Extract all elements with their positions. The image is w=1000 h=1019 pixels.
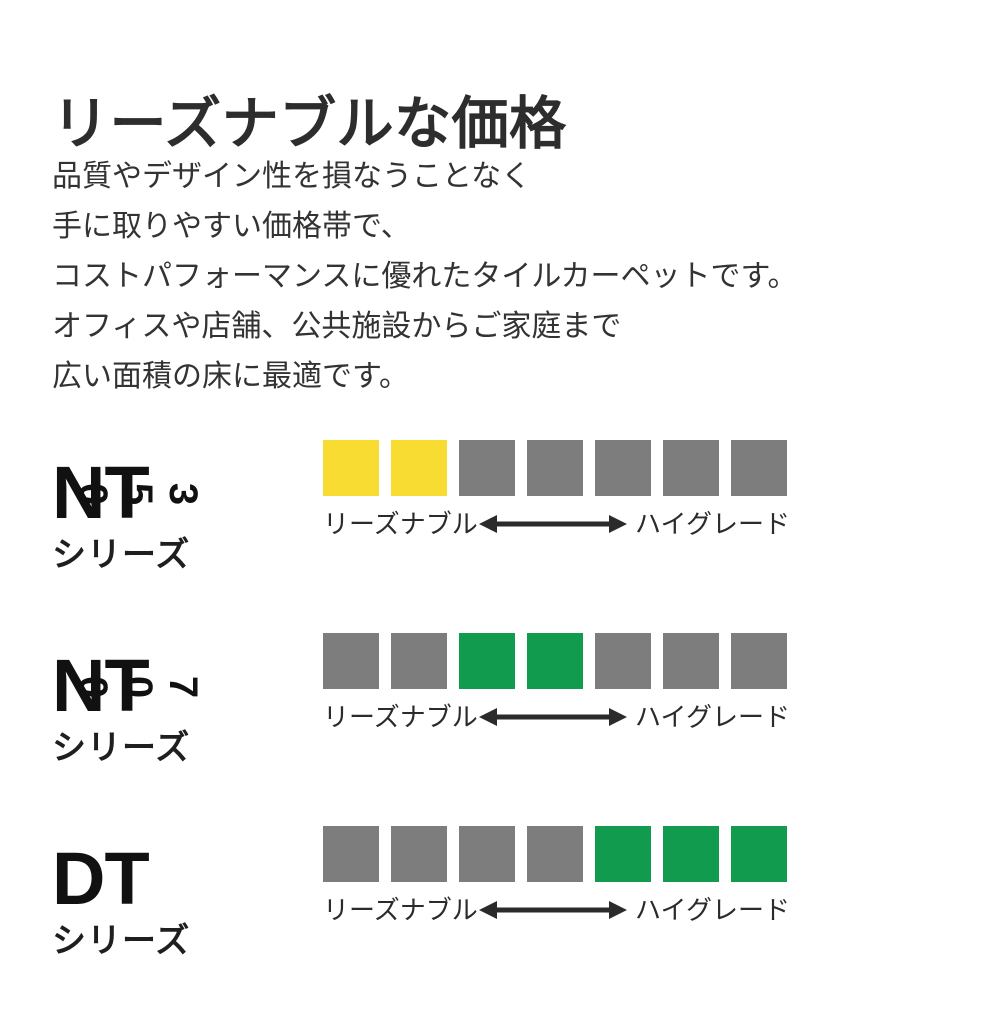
series-list: NT 350 シリーズ リーズナブル ハイグレード NT 700 [0, 440, 1000, 1019]
swatch-strip [323, 440, 791, 496]
description-line: コストパフォーマンスに優れたタイルカーペットです。 [52, 252, 798, 302]
series-sub-label: シリーズ [52, 924, 292, 958]
series-row-nt350: NT 350 シリーズ リーズナブル ハイグレード [0, 440, 1000, 633]
grade-swatch [459, 633, 515, 689]
scale-label-reasonable: リーズナブル [323, 508, 478, 540]
scale-label-highgrade: ハイグレード [635, 701, 790, 733]
grade-swatch [663, 826, 719, 882]
series-code: NT 700 [52, 651, 292, 723]
grade-swatch [663, 633, 719, 689]
series-sub-label: シリーズ [52, 538, 292, 572]
description-line: オフィスや店舗、公共施設からご家庭まで [52, 302, 798, 352]
grade-swatch [391, 826, 447, 882]
grade-swatch [391, 440, 447, 496]
description-line: 広い面積の床に最適です。 [52, 352, 798, 402]
scale-axis: リーズナブル ハイグレード [323, 508, 791, 542]
page-title: リーズナブルな価格 [52, 96, 567, 153]
grade-swatch [527, 633, 583, 689]
grade-swatch [595, 826, 651, 882]
grade-swatch [527, 440, 583, 496]
scale-label-reasonable: リーズナブル [323, 701, 478, 733]
grade-swatch [323, 826, 379, 882]
double-headed-arrow-icon [479, 705, 627, 729]
series-code-number: 350 [137, 474, 205, 514]
grade-swatch [731, 826, 787, 882]
grade-swatch [663, 440, 719, 496]
grade-swatch [595, 440, 651, 496]
series-code-main: DT [52, 844, 149, 914]
description-line: 品質やデザイン性を損なうことなく [52, 152, 798, 202]
price-grade-scale: リーズナブル ハイグレード [323, 633, 793, 735]
series-label: NT 350 シリーズ [52, 458, 292, 572]
series-label: NT 700 シリーズ [52, 651, 292, 765]
description-line: 手に取りやすい価格帯で、 [52, 202, 798, 252]
swatch-strip [323, 826, 791, 882]
grade-swatch [459, 440, 515, 496]
series-row-dt: DT シリーズ リーズナブル ハイグレード [0, 826, 1000, 1019]
series-code: NT 350 [52, 458, 292, 530]
series-label: DT シリーズ [52, 844, 292, 958]
grade-swatch [459, 826, 515, 882]
series-row-nt700: NT 700 シリーズ リーズナブル ハイグレード [0, 633, 1000, 826]
series-code-number: 700 [137, 667, 205, 707]
scale-label-highgrade: ハイグレード [635, 508, 790, 540]
price-grade-scale: リーズナブル ハイグレード [323, 826, 793, 928]
grade-swatch [391, 633, 447, 689]
grade-swatch [527, 826, 583, 882]
grade-swatch [323, 440, 379, 496]
scale-axis: リーズナブル ハイグレード [323, 894, 791, 928]
scale-label-highgrade: ハイグレード [635, 894, 790, 926]
price-grade-scale: リーズナブル ハイグレード [323, 440, 793, 542]
series-sub-label: シリーズ [52, 731, 292, 765]
scale-label-reasonable: リーズナブル [323, 894, 478, 926]
description-paragraph: 品質やデザイン性を損なうことなく 手に取りやすい価格帯で、 コストパフォーマンス… [52, 152, 798, 402]
scale-axis: リーズナブル ハイグレード [323, 701, 791, 735]
swatch-strip [323, 633, 791, 689]
grade-swatch [595, 633, 651, 689]
double-headed-arrow-icon [479, 512, 627, 536]
series-code: DT [52, 844, 292, 916]
double-headed-arrow-icon [479, 898, 627, 922]
grade-swatch [731, 440, 787, 496]
grade-swatch [323, 633, 379, 689]
grade-swatch [731, 633, 787, 689]
